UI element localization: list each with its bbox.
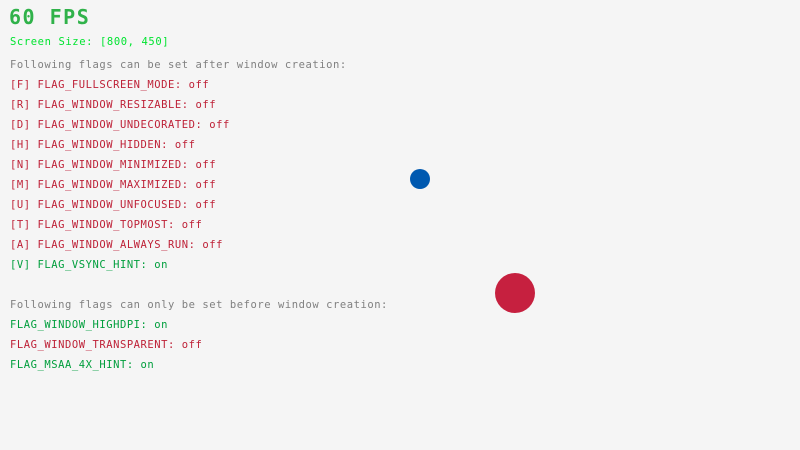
flag-row-window-maximized[interactable]: [M] FLAG_WINDOW_MAXIMIZED: off <box>10 180 216 191</box>
flag-row-window-minimized[interactable]: [N] FLAG_WINDOW_MINIMIZED: off <box>10 160 216 171</box>
flag-row-fullscreen-mode[interactable]: [F] FLAG_FULLSCREEN_MODE: off <box>10 80 209 91</box>
red-circle <box>495 273 535 313</box>
screen-size-label: Screen Size: [800, 450] <box>10 37 169 48</box>
blue-circle <box>410 169 430 189</box>
flag-row-vsync-hint[interactable]: [V] FLAG_VSYNC_HINT: on <box>10 260 168 271</box>
section-header-before-creation: Following flags can only be set before w… <box>10 300 388 311</box>
section-header-after-creation: Following flags can be set after window … <box>10 60 347 71</box>
flag-row-window-undecorated[interactable]: [D] FLAG_WINDOW_UNDECORATED: off <box>10 120 230 131</box>
flag-row-window-always-run[interactable]: [A] FLAG_WINDOW_ALWAYS_RUN: off <box>10 240 223 251</box>
flag-row-window-resizable[interactable]: [R] FLAG_WINDOW_RESIZABLE: off <box>10 100 216 111</box>
raylib-window-canvas[interactable]: 60 FPS Screen Size: [800, 450] Following… <box>0 0 800 450</box>
flag-row-window-unfocused[interactable]: [U] FLAG_WINDOW_UNFOCUSED: off <box>10 200 216 211</box>
flag-row-window-hidden[interactable]: [H] FLAG_WINDOW_HIDDEN: off <box>10 140 196 151</box>
flag-row-window-highdpi: FLAG_WINDOW_HIGHDPI: on <box>10 320 168 331</box>
flag-row-window-topmost[interactable]: [T] FLAG_WINDOW_TOPMOST: off <box>10 220 202 231</box>
fps-counter: 60 FPS <box>9 7 90 27</box>
flag-row-window-transparent: FLAG_WINDOW_TRANSPARENT: off <box>10 340 202 351</box>
flag-row-msaa-4x-hint: FLAG_MSAA_4X_HINT: on <box>10 360 154 371</box>
